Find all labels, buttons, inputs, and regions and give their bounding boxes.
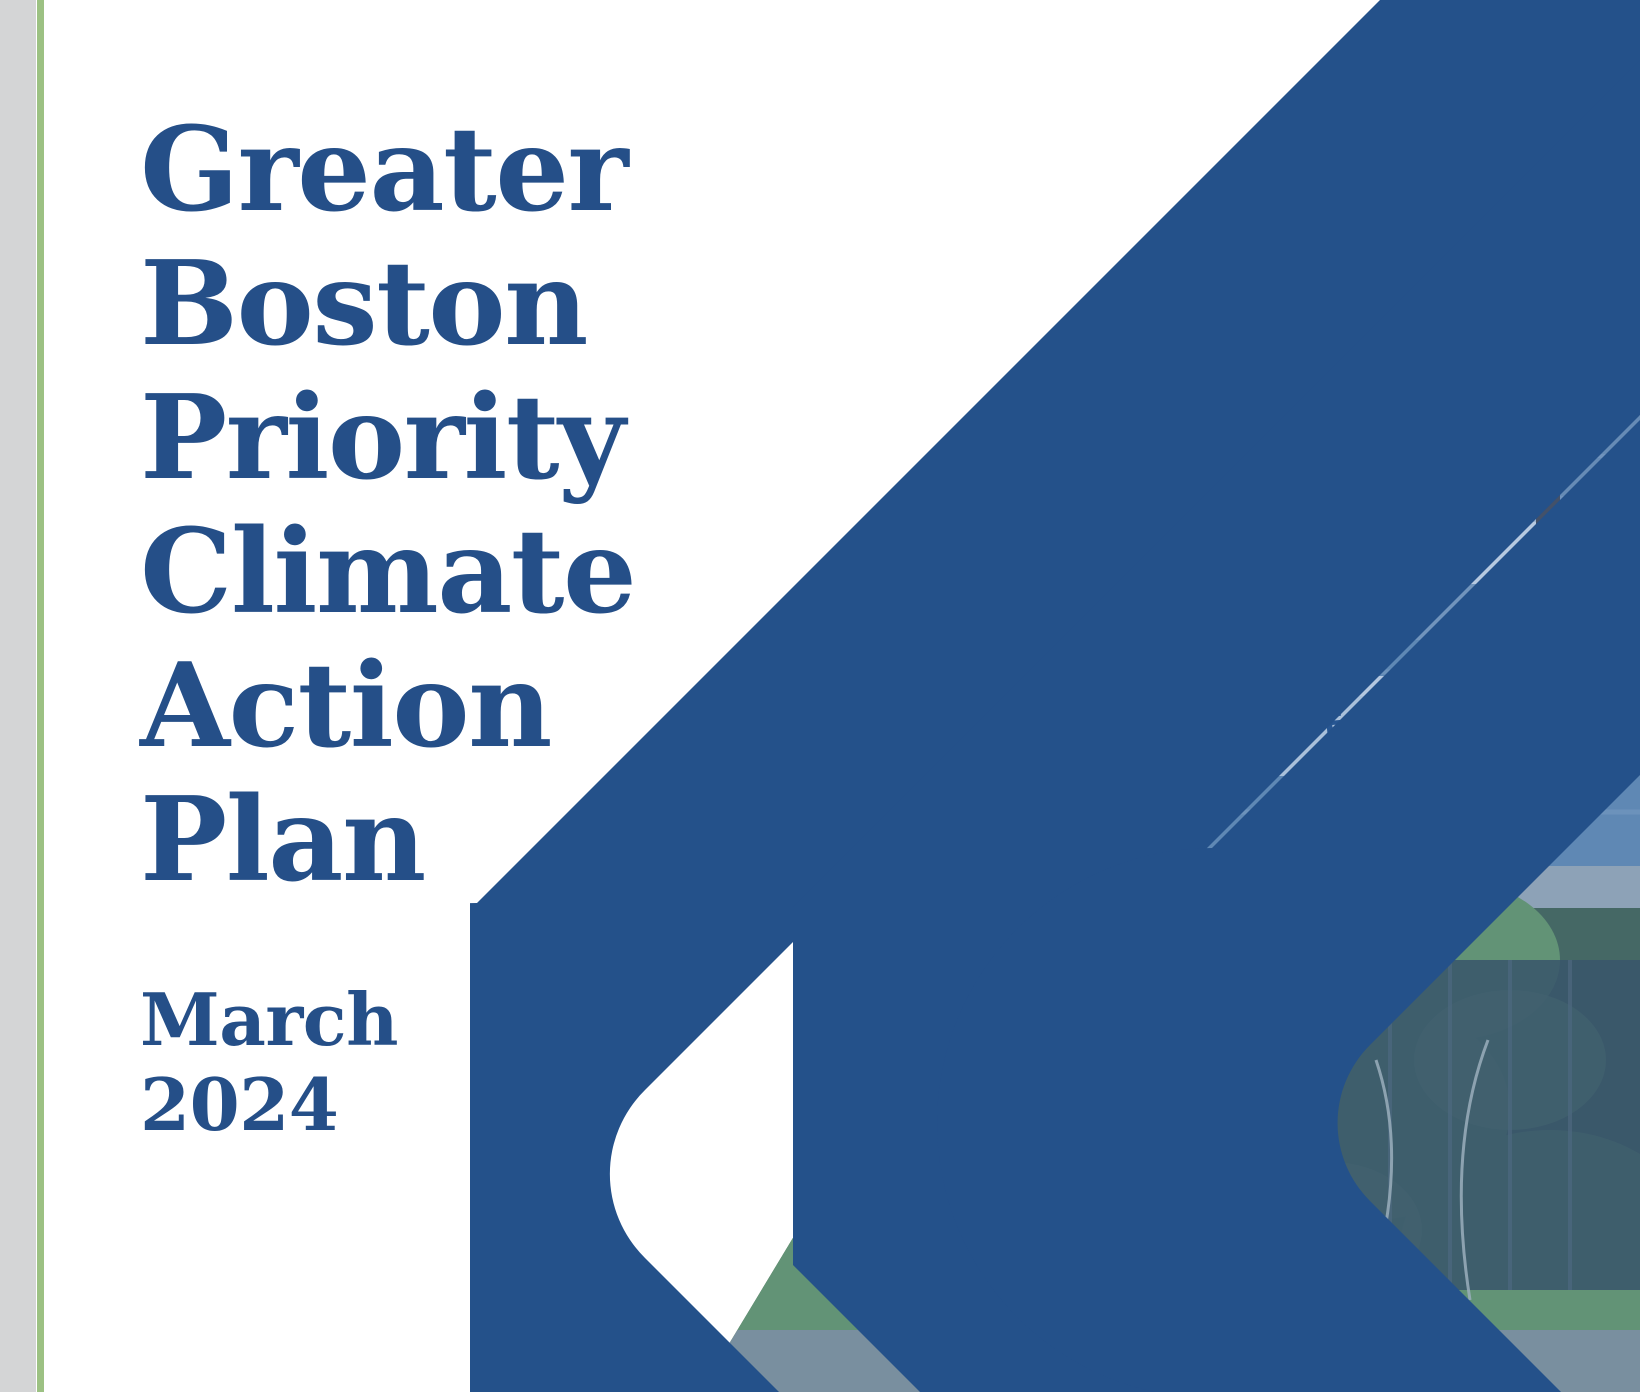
publication-date: March 2024 <box>140 978 398 1148</box>
document-cover: BLUE STAR <box>0 0 1640 1392</box>
left-edge-gray-band <box>0 0 36 1392</box>
page-title: Greater Boston Priority Climate Action P… <box>140 104 710 908</box>
left-edge-green-rule <box>37 0 44 1392</box>
title-block: Greater Boston Priority Climate Action P… <box>140 104 710 908</box>
